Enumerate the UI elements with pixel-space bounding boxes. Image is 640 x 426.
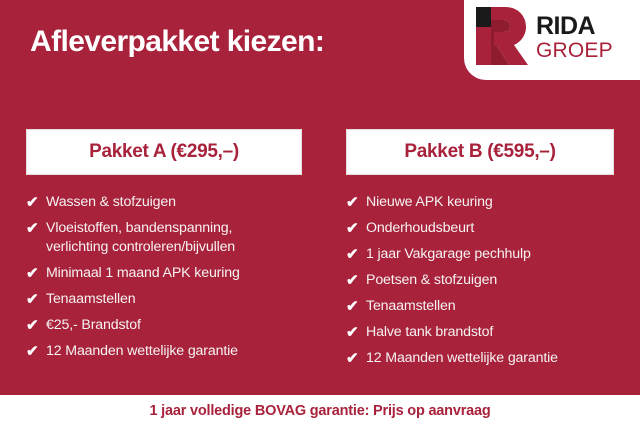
poster-header: Afleverpakket kiezen: RIDA GROEP [0,0,640,100]
rida-groep-logo: RIDA GROEP [464,0,640,80]
checkmark-icon: ✔ [26,290,46,309]
list-item-line-1: 1 jaar Vakgarage pechhulp [366,246,531,262]
list-item-label: Poetsen & stofzuigen [366,271,497,290]
list-item-label: Vloeistoffen, bandenspanning,verlichting… [46,219,235,257]
list-item: ✔Tenaamstellen [346,297,614,316]
list-item-line-1: Poetsen & stofzuigen [366,272,497,288]
logo-wordmark: RIDA GROEP [536,14,613,61]
list-item: ✔Tenaamstellen [26,290,302,309]
afleverpakket-poster: Afleverpakket kiezen: RIDA GROEP Pakket … [0,0,640,426]
list-item: ✔Wassen & stofzuigen [26,193,302,212]
package-a-feature-list: ✔Wassen & stofzuigen✔Vloeistoffen, bande… [26,193,302,361]
checkmark-icon: ✔ [346,219,366,238]
checkmark-icon: ✔ [26,264,46,283]
checkmark-icon: ✔ [346,297,366,316]
list-item-label: 12 Maanden wettelijke garantie [366,349,558,368]
list-item-label: 1 jaar Vakgarage pechhulp [366,245,531,264]
list-item-line-1: Nieuwe APK keuring [366,194,493,210]
package-column-b: Pakket B (€595,–) ✔Nieuwe APK keuring✔On… [346,129,614,375]
list-item: ✔Nieuwe APK keuring [346,193,614,212]
list-item-line-1: Wassen & stofzuigen [46,194,176,210]
list-item-line-1: Halve tank brandstof [366,324,493,340]
list-item: ✔Halve tank brandstof [346,323,614,342]
list-item-label: Minimaal 1 maand APK keuring [46,264,240,283]
list-item-line-1: 12 Maanden wettelijke garantie [46,343,238,359]
list-item: ✔Onderhoudsbeurt [346,219,614,238]
list-item-line-1: Tenaamstellen [46,291,136,307]
checkmark-icon: ✔ [346,349,366,368]
footer-guarantee-text: 1 jaar volledige BOVAG garantie: Prijs o… [149,403,490,419]
footer-banner: 1 jaar volledige BOVAG garantie: Prijs o… [0,395,640,426]
package-a-header[interactable]: Pakket A (€295,–) [26,129,302,175]
list-item-label: Tenaamstellen [46,290,136,309]
list-item: ✔Poetsen & stofzuigen [346,271,614,290]
page-title: Afleverpakket kiezen: [30,22,324,62]
list-item-line-1: Tenaamstellen [366,298,456,314]
list-item-label: Nieuwe APK keuring [366,193,493,212]
package-b-header[interactable]: Pakket B (€595,–) [346,129,614,175]
logo-name-top: RIDA [536,14,613,39]
list-item: ✔€25,- Brandstof [26,316,302,335]
list-item-line-1: Minimaal 1 maand APK keuring [46,265,240,281]
logo-name-bottom: GROEP [536,40,613,61]
list-item: ✔Minimaal 1 maand APK keuring [26,264,302,283]
list-item-line-1: Vloeistoffen, bandenspanning, [46,220,232,236]
list-item-line-2: verlichting controleren/bijvullen [46,238,235,257]
package-b-feature-list: ✔Nieuwe APK keuring✔Onderhoudsbeurt✔1 ja… [346,193,614,368]
checkmark-icon: ✔ [26,316,46,335]
checkmark-icon: ✔ [346,193,366,212]
list-item-label: Onderhoudsbeurt [366,219,474,238]
list-item-line-1: Onderhoudsbeurt [366,220,474,236]
checkmark-icon: ✔ [26,193,46,212]
list-item-label: Wassen & stofzuigen [46,193,176,212]
list-item: ✔12 Maanden wettelijke garantie [26,342,302,361]
package-a-title: Pakket A (€295,–) [89,141,239,163]
checkmark-icon: ✔ [26,342,46,361]
list-item: ✔1 jaar Vakgarage pechhulp [346,245,614,264]
list-item-label: 12 Maanden wettelijke garantie [46,342,238,361]
rida-r-mark-icon [472,5,530,67]
checkmark-icon: ✔ [346,245,366,264]
list-item-label: Tenaamstellen [366,297,456,316]
list-item: ✔Vloeistoffen, bandenspanning,verlichtin… [26,219,302,257]
checkmark-icon: ✔ [346,323,366,342]
package-b-title: Pakket B (€595,–) [404,141,555,163]
list-item-label: €25,- Brandstof [46,316,141,335]
checkmark-icon: ✔ [26,219,46,238]
list-item: ✔12 Maanden wettelijke garantie [346,349,614,368]
list-item-label: Halve tank brandstof [366,323,493,342]
package-column-a: Pakket A (€295,–) ✔Wassen & stofzuigen✔V… [26,129,302,368]
list-item-line-1: €25,- Brandstof [46,317,141,333]
checkmark-icon: ✔ [346,271,366,290]
list-item-line-1: 12 Maanden wettelijke garantie [366,350,558,366]
